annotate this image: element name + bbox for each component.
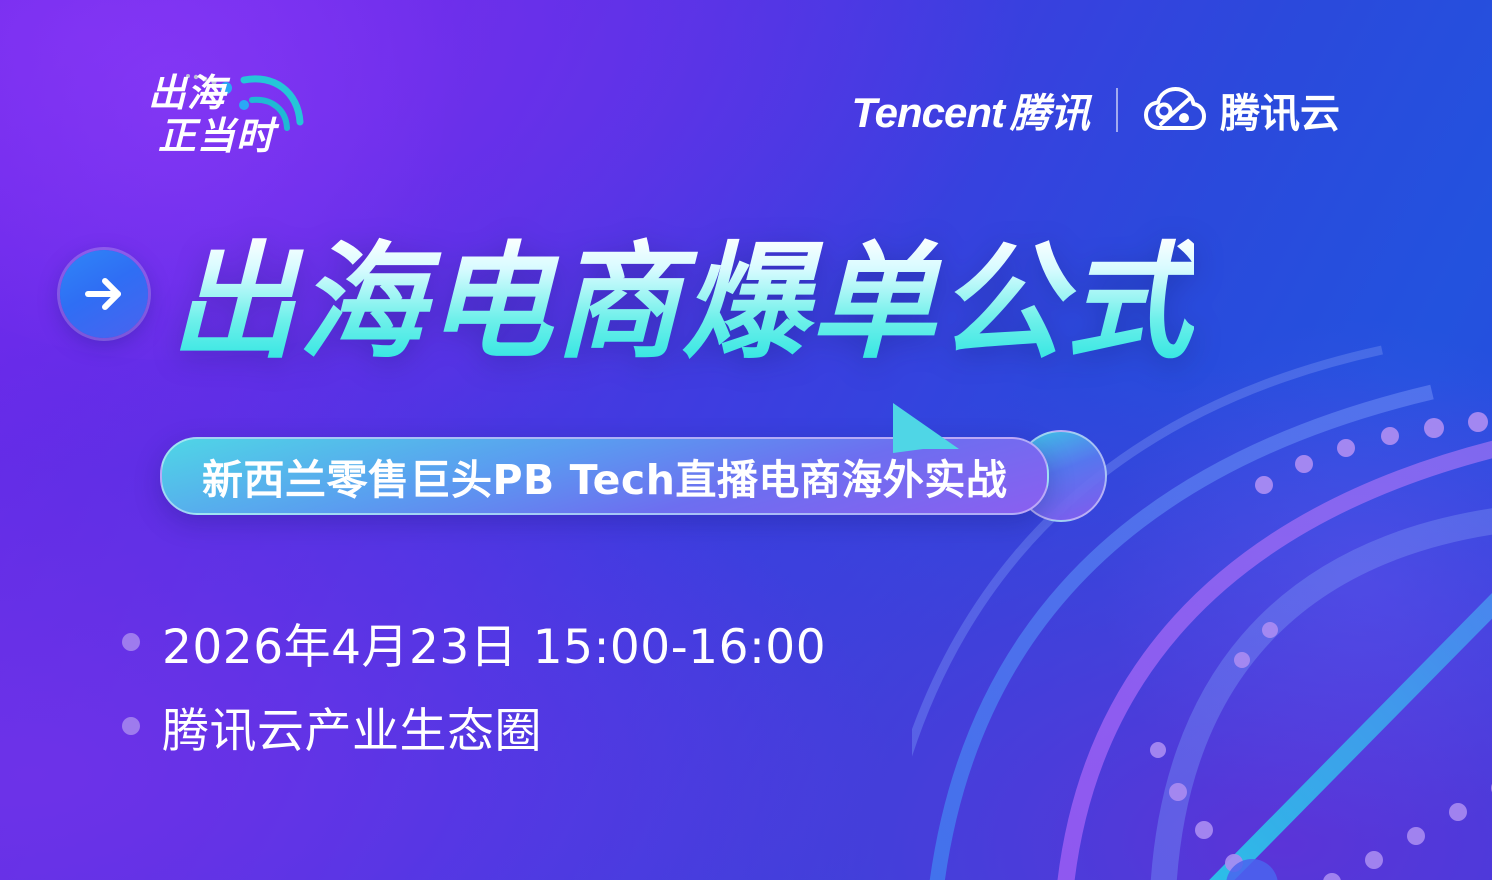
right-glow	[1082, 300, 1492, 860]
tencent-logo: Tencent 腾讯	[852, 81, 1090, 139]
brand-divider	[1116, 88, 1118, 132]
bullet-dot-icon	[122, 717, 140, 735]
subtitle-label: 新西兰零售巨头PB Tech直播电商海外实战	[202, 446, 1007, 506]
campaign-logo-line2: 正当时	[148, 115, 288, 158]
event-host-row: 腾讯云产业生态圈	[122, 684, 826, 768]
webinar-banner: 出海 正当时 Tencent 腾讯 腾讯云	[0, 0, 1492, 880]
tencent-logo-cn: 腾讯	[1010, 81, 1090, 139]
event-host: 腾讯云产业生态圈	[162, 692, 542, 761]
subtitle-pill-wrap: 新西兰零售巨头PB Tech直播电商海外实战	[160, 437, 1049, 515]
subtitle-pill: 新西兰零售巨头PB Tech直播电商海外实战	[160, 437, 1049, 515]
bullet-dot-icon	[122, 633, 140, 651]
campaign-logo-line1: 出海	[148, 71, 226, 115]
event-datetime-row: 2026年4月23日 15:00-16:00	[122, 600, 826, 684]
event-details: 2026年4月23日 15:00-16:00 腾讯云产业生态圈	[122, 600, 826, 768]
page-title: 出海电商爆单公式	[170, 232, 1194, 373]
campaign-logo-text: 出海 正当时	[148, 72, 288, 159]
arrow-right-glyph	[78, 268, 130, 320]
orbit-arcs-graphic	[912, 330, 1492, 880]
cloud-icon	[1144, 87, 1206, 133]
brand-lockup: Tencent 腾讯 腾讯云	[852, 78, 1340, 142]
event-datetime: 2026年4月23日 15:00-16:00	[162, 608, 826, 677]
tencent-cloud-label: 腾讯云	[1220, 81, 1340, 139]
pill-pointer-tail	[889, 401, 963, 453]
campaign-logo: 出海 正当时	[148, 58, 338, 168]
tencent-cloud-logo: 腾讯云	[1144, 81, 1340, 139]
banner-header: 出海 正当时 Tencent 腾讯 腾讯云	[0, 0, 1492, 190]
tencent-logo-en: Tencent	[852, 89, 1004, 137]
arrow-right-icon	[60, 250, 148, 338]
